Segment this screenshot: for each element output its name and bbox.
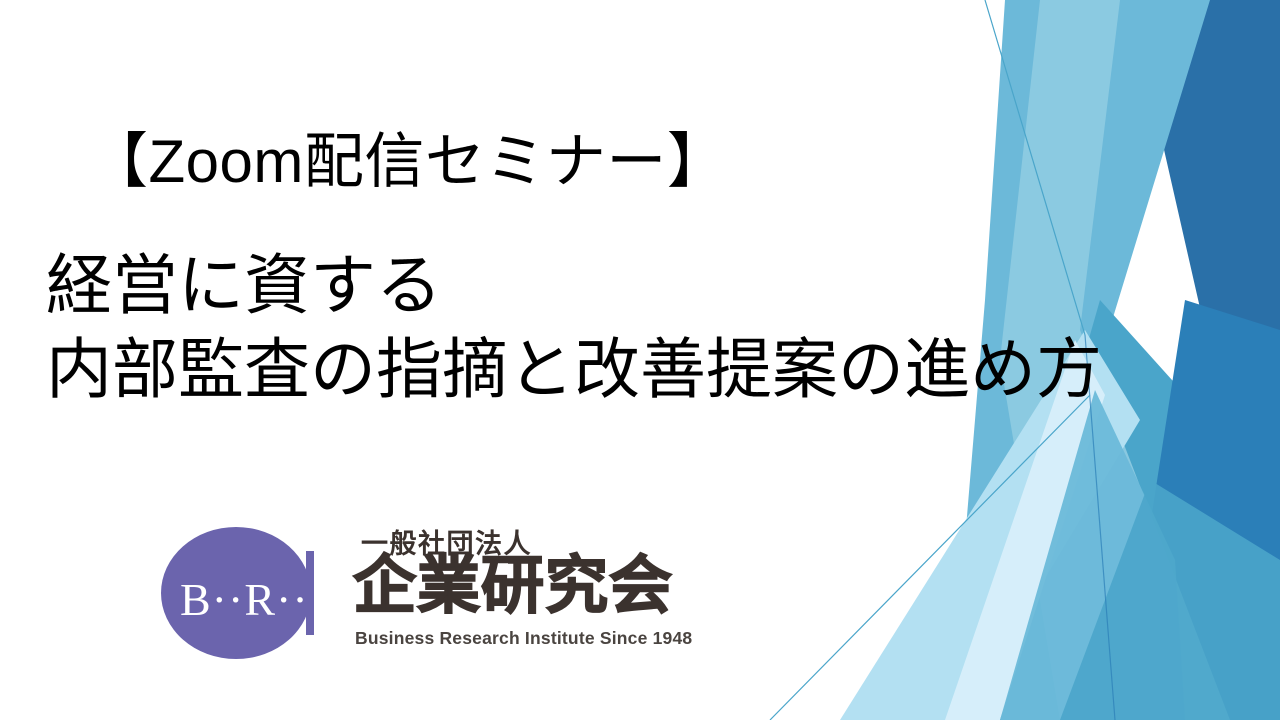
- decor-shape-mid-bottom: [1060, 480, 1280, 720]
- bri-ellipse-mark: B··R··: [158, 523, 333, 663]
- organization-logo: B··R·· 一般社団法人 企業研究会 Business Research In…: [158, 518, 718, 668]
- logo-mark-text: B··R··: [180, 574, 309, 625]
- decor-hairline-diagonal: [770, 395, 1090, 720]
- title-block: 【Zoom配信セミナー】: [0, 128, 1280, 196]
- presentation-slide: 【Zoom配信セミナー】 経営に資する 内部監査の指摘と改善提案の進め方 B··…: [0, 0, 1280, 720]
- subtitle-line-2: 内部監査の指摘と改善提案の進め方: [0, 327, 1280, 411]
- organization-name-block: 一般社団法人 企業研究会 Business Research Institute…: [353, 518, 713, 668]
- organization-tagline: Business Research Institute Since 1948: [355, 628, 692, 649]
- page-title: 【Zoom配信セミナー】: [0, 128, 1280, 196]
- subtitle-block: 経営に資する 内部監査の指摘と改善提案の進め方: [0, 243, 1280, 412]
- subtitle-line-1: 経営に資する: [0, 243, 1280, 327]
- organization-name: 企業研究会: [353, 554, 673, 617]
- decor-shape-sky-bottom: [1000, 390, 1185, 720]
